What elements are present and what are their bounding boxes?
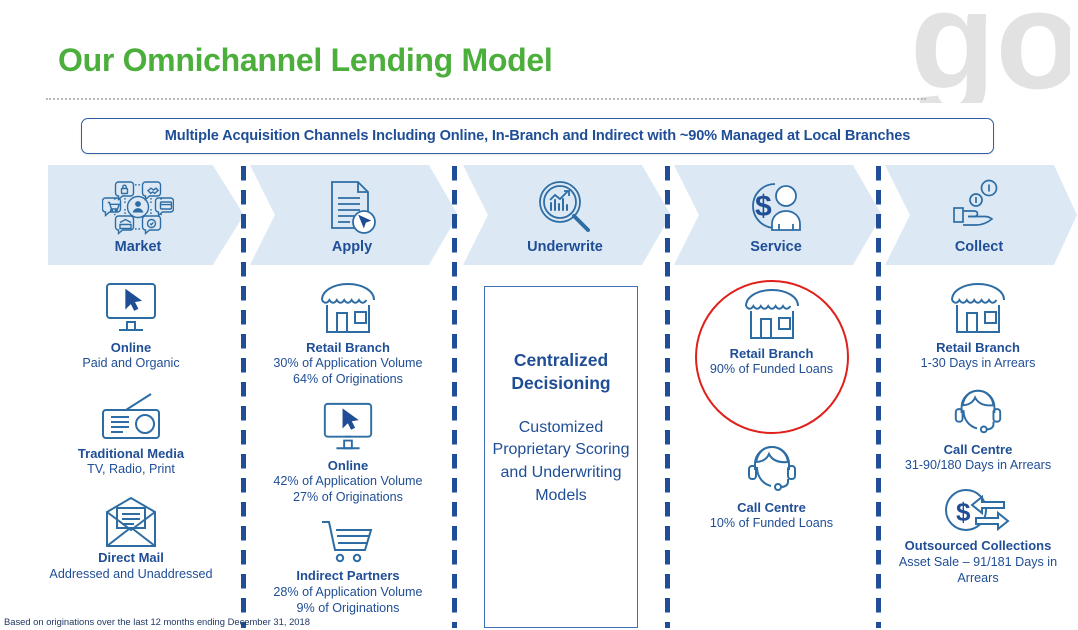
item-sub: 1-30 Days in Arrears (921, 356, 1036, 372)
page-title: Our Omnichannel Lending Model (58, 42, 552, 79)
item-sub: 10% of Funded Loans (710, 516, 833, 532)
headline-banner-text: Multiple Acquisition Channels Including … (165, 128, 910, 144)
item-title: Retail Branch (936, 340, 1020, 356)
svg-text:$: $ (956, 497, 971, 527)
stage-chevron-apply[interactable]: Apply (250, 165, 458, 265)
stage-chevron-market[interactable]: Market (48, 165, 244, 265)
item-sub: 9% of Originations (297, 601, 400, 617)
stage-label: Market (115, 239, 162, 255)
stage-chevron-collect[interactable]: Collect (885, 165, 1077, 265)
monitor-cursor-icon (312, 400, 384, 456)
item-title: Retail Branch (730, 346, 814, 362)
hand-coins-icon (948, 176, 1010, 238)
list-item: Retail Branch 1-30 Days in Arrears (878, 280, 1078, 372)
item-sub: Paid and Organic (82, 356, 179, 372)
dollar-person-icon: $ (745, 176, 807, 238)
stage-chevron-underwrite[interactable]: Underwrite (463, 165, 671, 265)
stage-label: Underwrite (527, 239, 603, 255)
item-title: Outsourced Collections (905, 538, 1052, 554)
item-title: Traditional Media (78, 446, 184, 462)
stage-label: Collect (955, 239, 1003, 255)
item-title: Call Centre (944, 442, 1013, 458)
storefront-icon (736, 286, 808, 344)
omnichannel-network-icon (102, 176, 174, 238)
centralized-decisioning-box: Centralized Decisioning Customized Propr… (484, 286, 638, 628)
list-item: $ Outsourced Collections Asset Sale – 91… (878, 484, 1078, 586)
envelope-letter-icon (93, 496, 169, 548)
centre-box-body: Customized Proprietary Scoring and Under… (485, 417, 637, 508)
list-item: Call Centre 31-90/180 Days in Arrears (878, 384, 1078, 474)
item-title: Indirect Partners (296, 568, 399, 584)
column-divider-2 (452, 166, 457, 628)
item-title: Online (328, 458, 368, 474)
go-logo-watermark: go (900, 0, 1070, 103)
item-title: Retail Branch (306, 340, 390, 356)
slide-root: go Our Omnichannel Lending Model Multipl… (0, 0, 1078, 630)
storefront-icon (312, 280, 384, 338)
dollar-transfer-icon: $ (940, 484, 1016, 536)
item-sub: 28% of Application Volume (273, 585, 422, 601)
list-item: Traditional Media TV, Radio, Print (20, 392, 242, 478)
shopping-cart-icon (312, 518, 384, 566)
column-collect: Retail Branch 1-30 Days in Arrears Call … (878, 280, 1078, 587)
list-item: Retail Branch 30% of Application Volume … (244, 280, 452, 388)
item-sub: TV, Radio, Print (87, 462, 175, 478)
list-item: Direct Mail Addressed and Unaddressed (20, 496, 242, 582)
headset-agent-icon (944, 384, 1012, 440)
list-item: Retail Branch 90% of Funded Loans (667, 286, 876, 378)
list-item: Online Paid and Organic (20, 280, 242, 372)
monitor-cursor-icon (95, 280, 167, 338)
list-item: Indirect Partners 28% of Application Vol… (244, 518, 452, 616)
item-sub: 31-90/180 Days in Arrears (905, 458, 1051, 474)
logo-text: go (910, 0, 1070, 103)
column-service: Retail Branch 90% of Funded Loans Call C… (667, 280, 876, 532)
item-sub: 90% of Funded Loans (710, 362, 833, 378)
stage-label: Apply (332, 239, 372, 255)
item-sub: Addressed and Unaddressed (49, 567, 212, 583)
list-item: Online 42% of Application Volume 27% of … (244, 400, 452, 506)
column-apply: Retail Branch 30% of Application Volume … (244, 280, 452, 617)
item-title: Online (111, 340, 151, 356)
document-cursor-icon (324, 176, 380, 238)
magnifier-bar-chart-icon (534, 176, 596, 238)
highlighted-item-wrap: Retail Branch 90% of Funded Loans (667, 286, 876, 378)
headset-agent-icon (738, 440, 806, 498)
item-sub: 42% of Application Volume (273, 474, 422, 490)
item-title: Direct Mail (98, 550, 164, 566)
headline-banner: Multiple Acquisition Channels Including … (81, 118, 994, 154)
radio-icon (93, 392, 169, 444)
item-sub: Asset Sale – 91/181 Days in (899, 555, 1057, 571)
item-sub: 64% of Originations (293, 372, 403, 388)
centre-box-heading: Centralized Decisioning (485, 349, 637, 395)
item-sub: 30% of Application Volume (273, 356, 422, 372)
storefront-icon (942, 280, 1014, 338)
title-divider (46, 98, 926, 100)
item-sub: Arrears (957, 571, 998, 587)
item-sub: 27% of Originations (293, 490, 403, 506)
list-item: Call Centre 10% of Funded Loans (667, 440, 876, 532)
svg-text:$: $ (755, 190, 772, 223)
stage-label: Service (750, 239, 802, 255)
column-market: Online Paid and Organic Traditional Medi… (20, 280, 242, 583)
footnote: Based on originations over the last 12 m… (4, 616, 310, 627)
process-chevron-band: Market Apply (0, 165, 1078, 265)
item-title: Call Centre (737, 500, 806, 516)
stage-chevron-service[interactable]: $ Service (674, 165, 882, 265)
